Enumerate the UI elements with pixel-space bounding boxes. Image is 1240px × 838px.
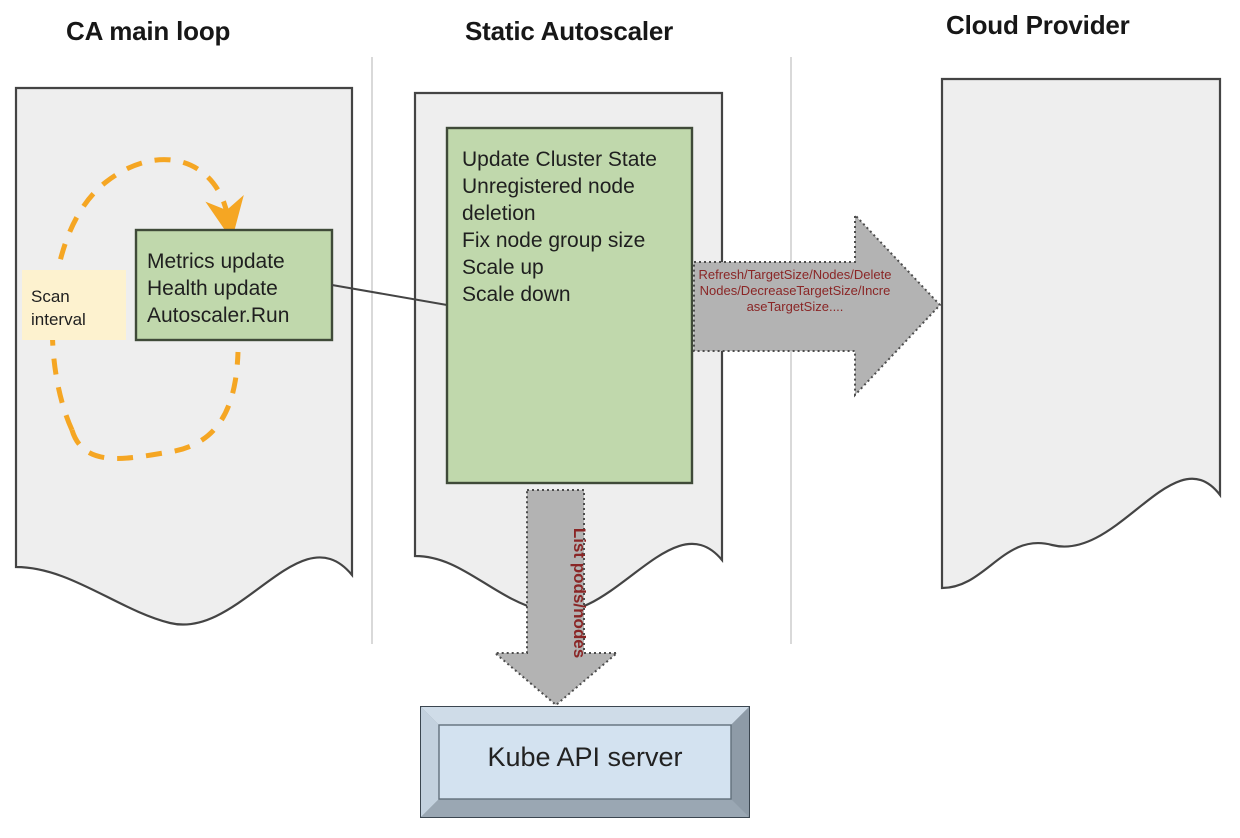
cloud-provider-arrow-label: Refresh/TargetSize/Nodes/DeleteNodes/Dec…	[697, 267, 893, 315]
column-title-ca-main-loop: CA main loop	[66, 16, 230, 47]
column-title-cloud-provider: Cloud Provider	[946, 10, 1130, 41]
autoscaler-steps-label: Update Cluster State Unregistered node d…	[462, 146, 702, 308]
diagram-canvas: CA main loop Static Autoscaler Cloud Pro…	[0, 0, 1240, 838]
kube-api-server-label: Kube API server	[440, 742, 730, 773]
scan-interval-label: Scan interval	[31, 285, 121, 331]
diagram-shapes-layer	[0, 0, 1240, 838]
panel-ca-main-loop	[16, 88, 352, 625]
panel-cloud-provider	[942, 79, 1220, 588]
metrics-box-label: Metrics update Health update Autoscaler.…	[147, 248, 337, 329]
column-title-static-autoscaler: Static Autoscaler	[465, 16, 673, 47]
list-pods-nodes-arrow-label: List pods/nodes	[569, 503, 589, 683]
